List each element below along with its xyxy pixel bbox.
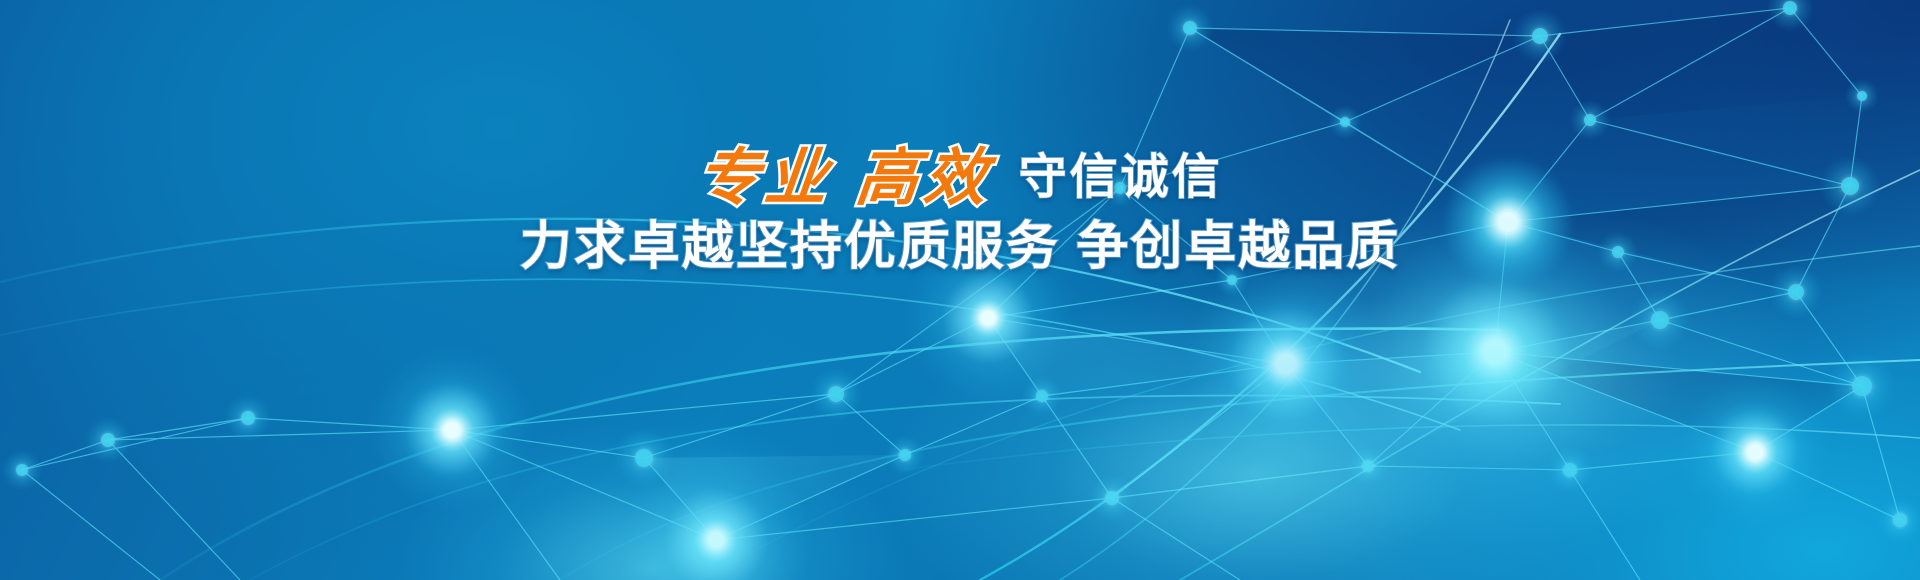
bottom-glow-overlay [0,0,1920,580]
promo-banner: 专业 高效守信诚信 力求卓越坚持优质服务 争创卓越品质 [0,0,1920,580]
